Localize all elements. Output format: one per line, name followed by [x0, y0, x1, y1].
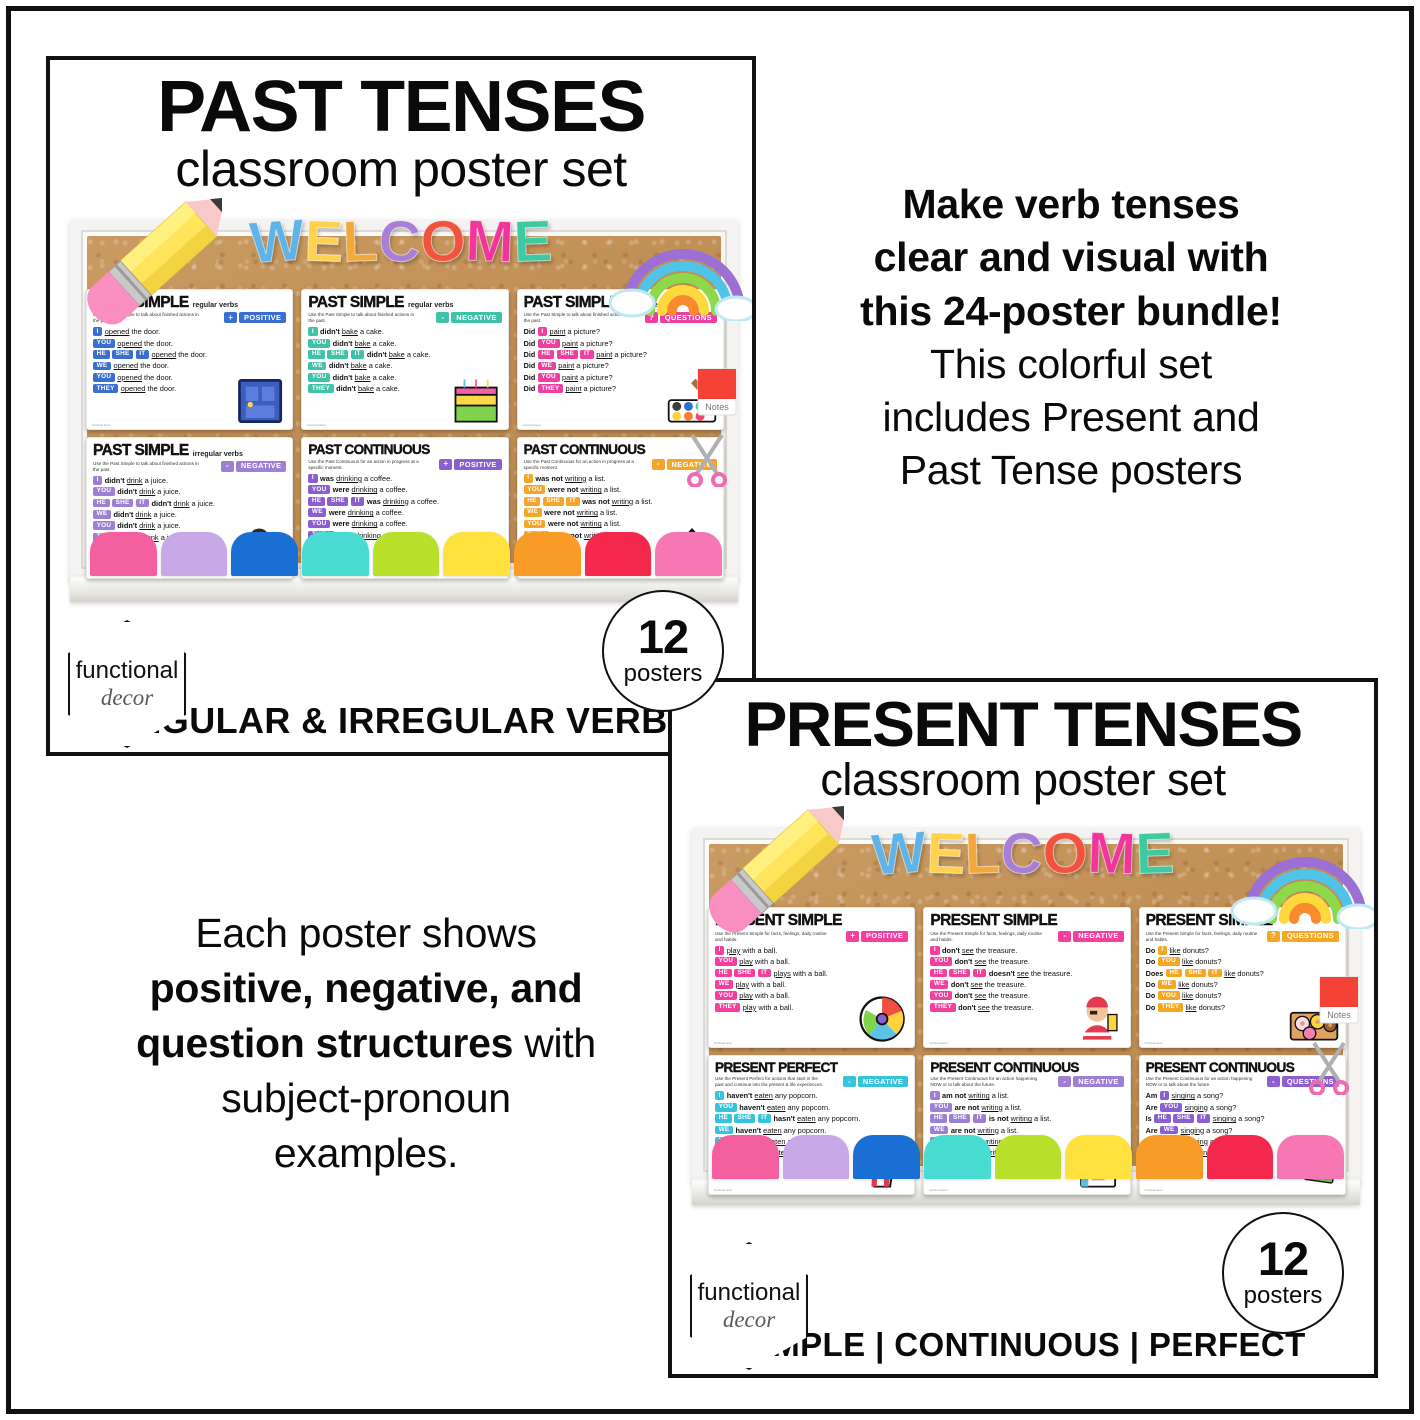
welcome-lettering-past: WELCOME	[250, 213, 553, 271]
poster-count-badge-present: 12 posters	[1222, 1212, 1344, 1334]
example-sentence-row: DidYOUpaint a picture?	[524, 339, 717, 348]
sentence-text: didn't drink a juice.	[152, 499, 215, 508]
sentence-text: didn't bake a cake.	[329, 361, 393, 370]
example-sentence-row: HESHEITdoesn't see the treasure.	[930, 969, 1123, 978]
mood-sign-icon: -	[1267, 1076, 1280, 1087]
example-sentence-row: Ididn't bake a cake.	[308, 327, 501, 336]
sentence-text: don't see the treasure.	[955, 991, 1030, 1000]
pronoun-chip: WE	[715, 1126, 733, 1135]
pronoun-chip: YOU	[538, 339, 560, 348]
poster-card-title: PAST SIMPLE	[93, 295, 189, 311]
welcome-letter-6: E	[1135, 824, 1176, 883]
pronoun-chip: HE	[930, 969, 947, 978]
sentence-text: paint a picture?	[565, 384, 616, 393]
example-sentence-row: DoWElike donuts?	[1146, 980, 1339, 989]
pronoun-chip: YOU	[93, 373, 115, 382]
poster-card-subheader: Use the Past Continuous for an action in…	[308, 459, 501, 471]
pronoun-chip: THEY	[308, 384, 333, 393]
example-sentence-row: YOUopened the door.	[93, 339, 286, 348]
pronoun-chip: YOU	[1158, 991, 1180, 1000]
promo-bl-line-5: examples.	[66, 1126, 666, 1181]
welcome-letter-2: L	[964, 825, 1001, 884]
poster-footer-credit: functional decor	[1145, 1189, 1163, 1192]
welcome-letter-5: M	[464, 212, 514, 272]
example-sentence-row: HESHEITplays with a ball.	[715, 969, 908, 978]
mood-sign-icon: +	[224, 312, 237, 323]
sentence-text: opened the door.	[113, 361, 169, 370]
mood-badge: +POSITIVE	[439, 459, 501, 470]
poster-card[interactable]: PAST SIMPLEregular verbsUse the Past Sim…	[517, 289, 724, 431]
pronoun-chip: HE	[308, 497, 325, 506]
pronoun-chip: I	[93, 327, 102, 336]
example-sentence-row: IsHESHEITsinging a song?	[1146, 1114, 1339, 1123]
pronoun-chip: THEY	[715, 1003, 740, 1012]
pronoun-chip: WE	[308, 508, 326, 517]
promo-bold-line-3: this 24-poster bundle!	[790, 285, 1352, 338]
pronoun-chip: SHE	[112, 350, 133, 359]
paper-tab-0	[90, 532, 157, 576]
pronoun-chip: I	[930, 1091, 939, 1100]
sentence-text: opened the door.	[117, 339, 173, 348]
pronoun-chip: IT	[136, 499, 149, 508]
mood-badge: -NEGATIVE	[843, 1076, 908, 1087]
pronoun-chip: SHE	[734, 1114, 755, 1123]
poster-card-header: PRESENT SIMPLE	[715, 913, 908, 929]
paper-tab-strip-past	[90, 532, 722, 576]
sentence-text: were drinking a coffee.	[333, 519, 408, 528]
poster-card-header: PAST SIMPLEregular verbs	[308, 295, 501, 311]
pronoun-chip: I	[93, 476, 102, 485]
pronoun-chip: I	[1158, 946, 1167, 955]
auxiliary-word: Did	[524, 339, 536, 348]
pronoun-chip: WE	[308, 362, 326, 371]
paper-tab-3	[302, 532, 369, 576]
example-sentence-row: WEdidn't bake a cake.	[308, 361, 501, 370]
sentence-text: paint a picture?	[596, 350, 647, 359]
sentence-text: are not writing a list.	[951, 1126, 1018, 1135]
pronoun-chip: HE	[715, 969, 732, 978]
paper-tab-2	[231, 532, 298, 576]
verb-kind-label: regular verbs	[193, 300, 239, 309]
mood-label: NEGATIVE	[236, 461, 286, 472]
sentence-text: was drinking a coffee.	[320, 474, 392, 483]
example-sentence-row: DidHESHEITpaint a picture?	[524, 350, 717, 359]
poster-card-subheader: Use the Past Simple to talk about finish…	[308, 312, 501, 324]
paper-tab-2	[853, 1135, 920, 1179]
poster-usage-description: Use the Present Simple for facts, feelin…	[715, 931, 827, 943]
pronoun-chip: IT	[1197, 1114, 1210, 1123]
page-subtitle-present: classroom poster set	[672, 757, 1374, 803]
example-sentence-row: Iwas drinking a coffee.	[308, 474, 501, 483]
example-sentence-row: WEare not writing a list.	[930, 1126, 1123, 1135]
paper-tab-7	[585, 532, 652, 576]
example-sentence-row: Ididn't drink a juice.	[93, 476, 286, 485]
pronoun-chip: HE	[308, 350, 325, 359]
pronoun-chip: IT	[758, 969, 771, 978]
sentence-text: was drinking a coffee.	[367, 497, 439, 506]
pronoun-chip: IT	[351, 497, 364, 506]
mood-sign-icon: +	[846, 931, 859, 942]
sentence-text: didn't drink a juice.	[105, 476, 168, 485]
sentence-text: like donuts?	[1182, 957, 1221, 966]
poster-card-title: PRESENT SIMPLE	[930, 913, 1057, 929]
poster-card-header: PRESENT SIMPLE	[930, 913, 1123, 929]
pronoun-chip: YOU	[93, 487, 115, 496]
pronoun-chip: I	[715, 946, 724, 955]
promo-light-line-2: includes Present and	[790, 391, 1352, 444]
pronoun-chip: YOU	[715, 957, 737, 966]
mood-sign-icon: -	[843, 1076, 856, 1087]
sentence-text: paint a picture?	[549, 327, 600, 336]
example-sentence-row: AreYOUsinging a song?	[1146, 1103, 1339, 1112]
poster-card-title: PRESENT CONTINUOUS	[930, 1061, 1079, 1075]
poster-card-title: PRESENT PERFECT	[715, 1061, 837, 1075]
welcome-letter-1: E	[925, 824, 966, 883]
example-sentence-row: YOUdon't see the treasure.	[930, 957, 1123, 966]
sentence-text: opened the door.	[121, 384, 177, 393]
example-sentence-row: YOUdidn't bake a cake.	[308, 339, 501, 348]
promo-bold-line-2: clear and visual with	[790, 231, 1352, 284]
pronoun-chip: IT	[351, 350, 364, 359]
sentence-text: doesn't see the treasure.	[989, 969, 1073, 978]
promo-bl-line-4: subject-pronoun	[66, 1071, 666, 1126]
auxiliary-word: Did	[524, 361, 536, 370]
sentence-text: singing a song?	[1184, 1103, 1236, 1112]
mood-badge: ?QUESTIONS	[1267, 931, 1339, 942]
verb-kind-label: regular verbs	[623, 300, 669, 309]
pronoun-chip: WE	[93, 510, 111, 519]
poster-usage-description: Use the Past Simple to talk about finish…	[308, 312, 420, 324]
brand-name-line2: decor	[101, 686, 153, 709]
pronoun-chip: SHE	[734, 969, 755, 978]
pronoun-chip: I	[524, 474, 533, 483]
example-sentence-row: YOUwere drinking a coffee.	[308, 485, 501, 494]
mood-sign-icon: -	[1058, 1076, 1071, 1087]
pronoun-chip: YOU	[524, 520, 546, 529]
pronoun-chip: WE	[715, 980, 733, 989]
welcome-letter-4: O	[419, 212, 467, 272]
mood-sign-icon: -	[436, 312, 449, 323]
pronoun-chip: WE	[1160, 1126, 1178, 1135]
pronoun-chip: YOU	[308, 485, 330, 494]
pronoun-chip: WE	[524, 508, 542, 517]
example-sentence-row: YOUdidn't drink a juice.	[93, 487, 286, 496]
pronoun-chip: I	[308, 327, 317, 336]
pronoun-chip: YOU	[524, 485, 546, 494]
panel-present-header: PRESENT TENSES classroom poster set	[672, 682, 1374, 803]
poster-card-header: PAST SIMPLEregular verbs	[93, 295, 286, 311]
brand-name-line1: functional	[698, 1281, 801, 1305]
example-sentence-row: WEwere drinking a coffee.	[308, 508, 501, 517]
auxiliary-word: Are	[1146, 1103, 1158, 1112]
example-sentence-row: Idon't see the treasure.	[930, 946, 1123, 955]
notes-pad-icon: Notes	[694, 363, 740, 417]
svg-text:Notes: Notes	[1327, 1010, 1351, 1020]
auxiliary-word: Does	[1146, 969, 1164, 978]
pronoun-chip: I	[930, 946, 939, 955]
notes-pad-icon: Notes	[1316, 971, 1362, 1025]
poster-usage-description: Use the Past Simple to talk about finish…	[524, 312, 636, 324]
example-sentence-row: DoYOUlike donuts?	[1146, 957, 1339, 966]
promo-bold-line-1: Make verb tenses	[790, 178, 1352, 231]
mood-label: NEGATIVE	[1073, 931, 1123, 942]
paper-tab-strip-present	[712, 1135, 1344, 1179]
sentence-text: play with a ball.	[739, 991, 790, 1000]
ball-icon	[854, 993, 912, 1045]
pronoun-chip: YOU	[93, 521, 115, 530]
sentence-text: were drinking a coffee.	[333, 485, 408, 494]
paper-tab-5	[443, 532, 510, 576]
pronoun-chip: I	[1160, 1091, 1169, 1100]
pronoun-chip: YOU	[930, 957, 952, 966]
paper-tab-3	[924, 1135, 991, 1179]
pronoun-chip: IT	[973, 969, 986, 978]
pronoun-chip: YOU	[1160, 1103, 1182, 1112]
pronoun-chip: WE	[1158, 980, 1176, 989]
paper-tab-8	[1277, 1135, 1344, 1179]
promo-bl-bold-2: question structures	[136, 1020, 513, 1066]
mood-label: QUESTIONS	[1282, 931, 1339, 942]
pronoun-chip: SHE	[1185, 969, 1206, 978]
poster-footer-credit: functional decor	[714, 1042, 732, 1045]
pronoun-chip: SHE	[327, 350, 348, 359]
paper-tab-8	[655, 532, 722, 576]
sentence-text: didn't bake a cake.	[333, 339, 397, 348]
pronoun-chip: WE	[930, 980, 948, 989]
poster-card-subheader: Use the Past Simple to talk about finish…	[524, 312, 717, 324]
pronoun-chip: YOU	[930, 1103, 952, 1112]
welcome-letter-1: E	[303, 212, 344, 271]
pronoun-chip: SHE	[112, 499, 133, 508]
sentence-text: don't see the treasure.	[955, 957, 1030, 966]
auxiliary-word: Am	[1146, 1091, 1158, 1100]
example-sentence-row: WEplay with a ball.	[715, 980, 908, 989]
promo-bl-line-1: Each poster shows	[66, 906, 666, 961]
poster-usage-description: Use the Past Simple to talk about finish…	[93, 312, 205, 324]
sentence-text: am not writing a list.	[942, 1091, 1009, 1100]
sentence-text: didn't bake a cake.	[367, 350, 431, 359]
auxiliary-word: Are	[1146, 1126, 1158, 1135]
poster-card-subheader: Use the Past Simple to talk about finish…	[93, 312, 286, 324]
panel-past-header: PAST TENSES classroom poster set	[50, 60, 752, 195]
example-sentence-row: DidWEpaint a picture?	[524, 361, 717, 370]
promo-bl-bold-1: positive, negative, and	[66, 961, 666, 1016]
poster-card-title: PAST SIMPLE	[524, 295, 620, 311]
example-sentence-row: Ihaven't eaten any popcorn.	[715, 1091, 908, 1100]
poster-usage-description: Use the Present Simple for facts, feelin…	[1146, 931, 1258, 943]
poster-card-subheader: Use the Present Simple for facts, feelin…	[715, 931, 908, 943]
poster-card-header: PRESENT SIMPLE	[1146, 913, 1339, 929]
sentence-text: didn't drink a juice.	[117, 521, 180, 530]
pronoun-chip: HE	[538, 350, 555, 359]
pronoun-chip: HE	[930, 1114, 947, 1123]
example-sentence-row: AreWEsinging a song?	[1146, 1126, 1339, 1135]
brand-logo-past: functional decor	[68, 620, 186, 748]
sentence-text: play with a ball.	[743, 1003, 794, 1012]
pronoun-chip: IT	[973, 1114, 986, 1123]
sentence-text: like donuts?	[1185, 1003, 1224, 1012]
poster-card[interactable]: PRESENT SIMPLEUse the Present Simple for…	[923, 907, 1130, 1048]
poster-card[interactable]: PRESENT SIMPLEUse the Present Simple for…	[1139, 907, 1346, 1048]
sentence-text: were not writing a list.	[548, 485, 621, 494]
sentence-text: haven't eaten any popcorn.	[739, 1103, 830, 1112]
poster-product-listing: PAST TENSES classroom poster set WELCOME	[0, 0, 1420, 1420]
example-sentence-row: Iam not writing a list.	[930, 1091, 1123, 1100]
sentence-text: opened the door.	[152, 350, 208, 359]
paper-tab-4	[373, 532, 440, 576]
example-sentence-row: WEdidn't drink a juice.	[93, 510, 286, 519]
poster-card[interactable]: PAST SIMPLEregular verbsUse the Past Sim…	[86, 289, 293, 431]
poster-usage-description: Use the Past Continuous for an action in…	[524, 459, 636, 471]
poster-card-title: PRESENT CONTINUOUS	[1146, 1061, 1295, 1075]
promo-text-bottom-left: Each poster shows positive, negative, an…	[66, 906, 666, 1181]
pronoun-chip: IT	[758, 1114, 771, 1123]
pronoun-chip: SHE	[949, 969, 970, 978]
auxiliary-word: Do	[1146, 980, 1156, 989]
bulletin-board-photo-past: WELCOME	[50, 203, 752, 628]
poster-footer-credit: functional decor	[307, 424, 325, 427]
bulletin-board-photo-present: WELCOME	[672, 811, 1374, 1231]
example-sentence-row: HESHEITwas not writing a list.	[524, 497, 717, 506]
example-sentence-row: DoIlike donuts?	[1146, 946, 1339, 955]
sentence-text: were not writing a list.	[548, 519, 621, 528]
pronoun-chip: YOU	[930, 991, 952, 1000]
paper-tab-6	[1136, 1135, 1203, 1179]
sentence-text: were not writing a list.	[544, 508, 617, 517]
verb-kind-label: irregular verbs	[193, 449, 243, 458]
auxiliary-word: Do	[1146, 1003, 1156, 1012]
sentence-text: hasn't eaten any popcorn.	[774, 1114, 861, 1123]
poster-count-badge-past: 12 posters	[602, 590, 724, 712]
auxiliary-word: Did	[524, 373, 536, 382]
poster-card-subheader: Use the Present Continuous for an action…	[930, 1076, 1123, 1088]
sentence-text: play with a ball.	[739, 957, 790, 966]
pronoun-chip: YOU	[308, 520, 330, 529]
example-sentence-row: WEhaven't eaten any popcorn.	[715, 1126, 908, 1135]
welcome-letter-4: O	[1041, 824, 1089, 884]
mood-label: QUESTIONS	[660, 312, 717, 323]
sentence-text: singing a song?	[1181, 1126, 1233, 1135]
poster-card-header: PAST CONTINUOUS	[308, 443, 501, 457]
mood-sign-icon: ?	[645, 312, 658, 323]
pronoun-chip: SHE	[557, 350, 578, 359]
example-sentence-row: HESHEITwas drinking a coffee.	[308, 497, 501, 506]
brand-logo-present: functional decor	[690, 1242, 808, 1370]
example-sentence-row: YOUare not writing a list.	[930, 1103, 1123, 1112]
sentence-text: opened the door.	[105, 327, 161, 336]
pronoun-chip: SHE	[543, 497, 564, 506]
welcome-letter-3: C	[999, 824, 1044, 884]
pronoun-chip: HE	[1154, 1114, 1171, 1123]
pronoun-chip: HE	[715, 1114, 732, 1123]
poster-count-number: 12	[1258, 1238, 1308, 1280]
sentence-text: paint a picture?	[562, 339, 613, 348]
sentence-text: like donuts?	[1224, 969, 1263, 978]
mood-badge: ?QUESTIONS	[645, 312, 717, 323]
welcome-letter-5: M	[1086, 824, 1136, 884]
paper-tab-1	[783, 1135, 850, 1179]
mood-label: NEGATIVE	[1073, 1076, 1123, 1087]
mood-badge: -NEGATIVE	[436, 312, 501, 323]
sentence-text: don't see the treasure.	[942, 946, 1017, 955]
poster-footer-credit: functional decor	[929, 1042, 947, 1045]
poster-usage-description: Use the Past Simple to talk about finish…	[93, 461, 205, 473]
auxiliary-word: Do	[1146, 991, 1156, 1000]
poster-card-title: PRESENT SIMPLE	[1146, 913, 1273, 929]
sentence-text: paint a picture?	[562, 373, 613, 382]
poster-card-header: PRESENT CONTINUOUS	[930, 1061, 1123, 1075]
example-sentence-row: HESHEITis not writing a list.	[930, 1114, 1123, 1123]
poster-card[interactable]: PRESENT SIMPLEUse the Present Simple for…	[708, 907, 915, 1048]
page-title-past: PAST TENSES	[46, 74, 756, 142]
pronoun-chip: HE	[93, 350, 110, 359]
sentence-text: like donuts?	[1182, 991, 1221, 1000]
promo-light-line-1: This colorful set	[790, 338, 1352, 391]
mood-sign-icon: -	[221, 461, 234, 472]
pronoun-chip: THEY	[930, 1003, 955, 1012]
sentence-text: opened the door.	[117, 373, 173, 382]
verb-kind-label: regular verbs	[408, 300, 454, 309]
paper-tab-0	[712, 1135, 779, 1179]
pronoun-chip: IT	[136, 350, 149, 359]
auxiliary-word: Did	[524, 350, 536, 359]
poster-card-header: PAST SIMPLEregular verbs	[524, 295, 717, 311]
example-sentence-row: HESHEITopened the door.	[93, 350, 286, 359]
auxiliary-word: Do	[1146, 957, 1156, 966]
pronoun-chip: YOU	[93, 339, 115, 348]
poster-card[interactable]: PAST SIMPLEregular verbsUse the Past Sim…	[301, 289, 508, 431]
auxiliary-word: Did	[524, 384, 536, 393]
sentence-text: plays with a ball.	[774, 969, 828, 978]
sentence-text: haven't eaten any popcorn.	[727, 1091, 818, 1100]
pronoun-chip: YOU	[308, 339, 330, 348]
poster-usage-description: Use the Present Simple for facts, feelin…	[930, 931, 1042, 943]
pronoun-chip: SHE	[1173, 1114, 1194, 1123]
sentence-text: play with a ball.	[727, 946, 778, 955]
example-sentence-row: WEopened the door.	[93, 361, 286, 370]
sentence-text: don't see the treasure.	[958, 1003, 1033, 1012]
scissors-icon	[1306, 1039, 1352, 1095]
sentence-text: singing a song?	[1213, 1114, 1265, 1123]
paper-tab-6	[514, 532, 581, 576]
pronoun-chip: HE	[1166, 969, 1183, 978]
poster-footer-credit: functional decor	[714, 1189, 732, 1192]
example-sentence-row: HESHEITdidn't drink a juice.	[93, 499, 286, 508]
promo-light-line-3: Past Tense posters	[790, 444, 1352, 497]
pronoun-chip: I	[308, 474, 317, 483]
pronoun-chip: SHE	[949, 1114, 970, 1123]
auxiliary-word: Is	[1146, 1114, 1152, 1123]
paper-tab-1	[161, 532, 228, 576]
example-sentence-row: Iplay with a ball.	[715, 946, 908, 955]
sentence-text: didn't bake a cake.	[336, 384, 400, 393]
pronoun-chip: I	[715, 1091, 724, 1100]
sentence-text: were drinking a coffee.	[329, 508, 404, 517]
pronoun-chip: IT	[566, 497, 579, 506]
example-sentence-row: WEdon't see the treasure.	[930, 980, 1123, 989]
mood-label: NEGATIVE	[451, 312, 501, 323]
pirate-icon	[1070, 993, 1128, 1045]
sentence-text: was not writing a list.	[535, 474, 605, 483]
brand-name-line2: decor	[723, 1308, 775, 1331]
mood-label: POSITIVE	[861, 931, 908, 942]
example-sentence-row: DoesHESHEITlike donuts?	[1146, 969, 1339, 978]
pronoun-chip: THEY	[93, 384, 118, 393]
door-icon	[232, 375, 290, 427]
pronoun-chip: IT	[580, 350, 593, 359]
poster-footer-credit: functional decor	[92, 424, 110, 427]
poster-footer-credit: functional decor	[929, 1189, 947, 1192]
